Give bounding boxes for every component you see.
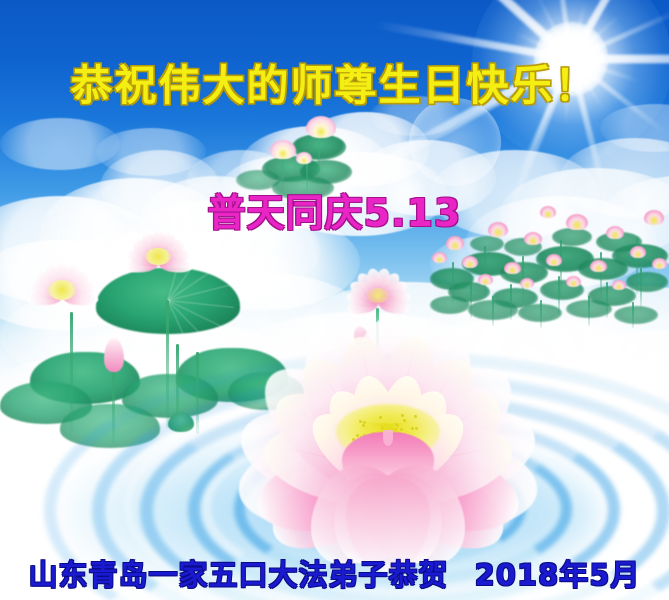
field-lotus-flower [630,246,646,258]
field-lotus-stem [640,268,642,308]
signature-text: 山东青岛一家五口大法弟子恭贺 [29,558,449,592]
field-lotus-stem [606,282,608,318]
stamen-dot [379,416,382,419]
field-lotus-flower [446,236,464,250]
left-upper-flower-center [145,248,171,265]
field-lotus-flower [520,278,534,288]
field-lotus-stem [470,278,472,318]
cluster-lotus-flower [306,116,336,138]
field-lotus-stem [560,240,562,298]
left-lotus-stem [70,312,73,432]
cluster-lotus-flower [270,140,296,159]
cloud-puff [96,128,206,176]
field-lotus-flower [478,274,493,285]
field-lotus-flower [462,256,478,268]
field-lotus-stem [588,296,590,326]
field-lotus-stem [452,262,454,304]
field-lotus-stem [632,302,634,328]
cluster-lotus-flower [296,152,312,164]
field-lotus-flower [432,252,447,263]
greeting-card: 恭祝伟大的师尊生日快乐！ 普天同庆5.13 山东青岛一家五口大法弟子恭贺2018… [0,0,669,600]
field-lotus-flower [504,262,521,274]
field-lotus-flower [546,254,562,266]
field-lotus-stem [510,284,512,320]
field-lotus-stem [492,296,494,326]
field-lotus-flower [612,280,626,290]
field-lotus-flower [566,276,581,287]
field-lotus-pad [470,236,504,252]
field-lotus-stem [540,300,542,328]
left-mid-flower-center [48,280,76,300]
cup-notch [383,430,393,446]
field-lotus-flower [590,260,607,272]
field-lotus-stem [484,246,486,298]
field-lotus-pad [626,272,668,292]
headline-text: 恭祝伟大的师尊生日快乐！ [0,52,669,113]
signature-line: 山东青岛一家五口大法弟子恭贺2018年5月 [0,552,669,594]
subline-text: 普天同庆5.13 [0,182,669,237]
field-lotus-pad [430,296,470,314]
field-lotus-pad [614,306,658,324]
signature-date: 2018年5月 [475,558,641,592]
stamen-dot [356,434,359,437]
field-lotus-flower [652,258,667,269]
center-lotus-core [367,288,389,303]
field-lotus-stem [558,276,560,316]
